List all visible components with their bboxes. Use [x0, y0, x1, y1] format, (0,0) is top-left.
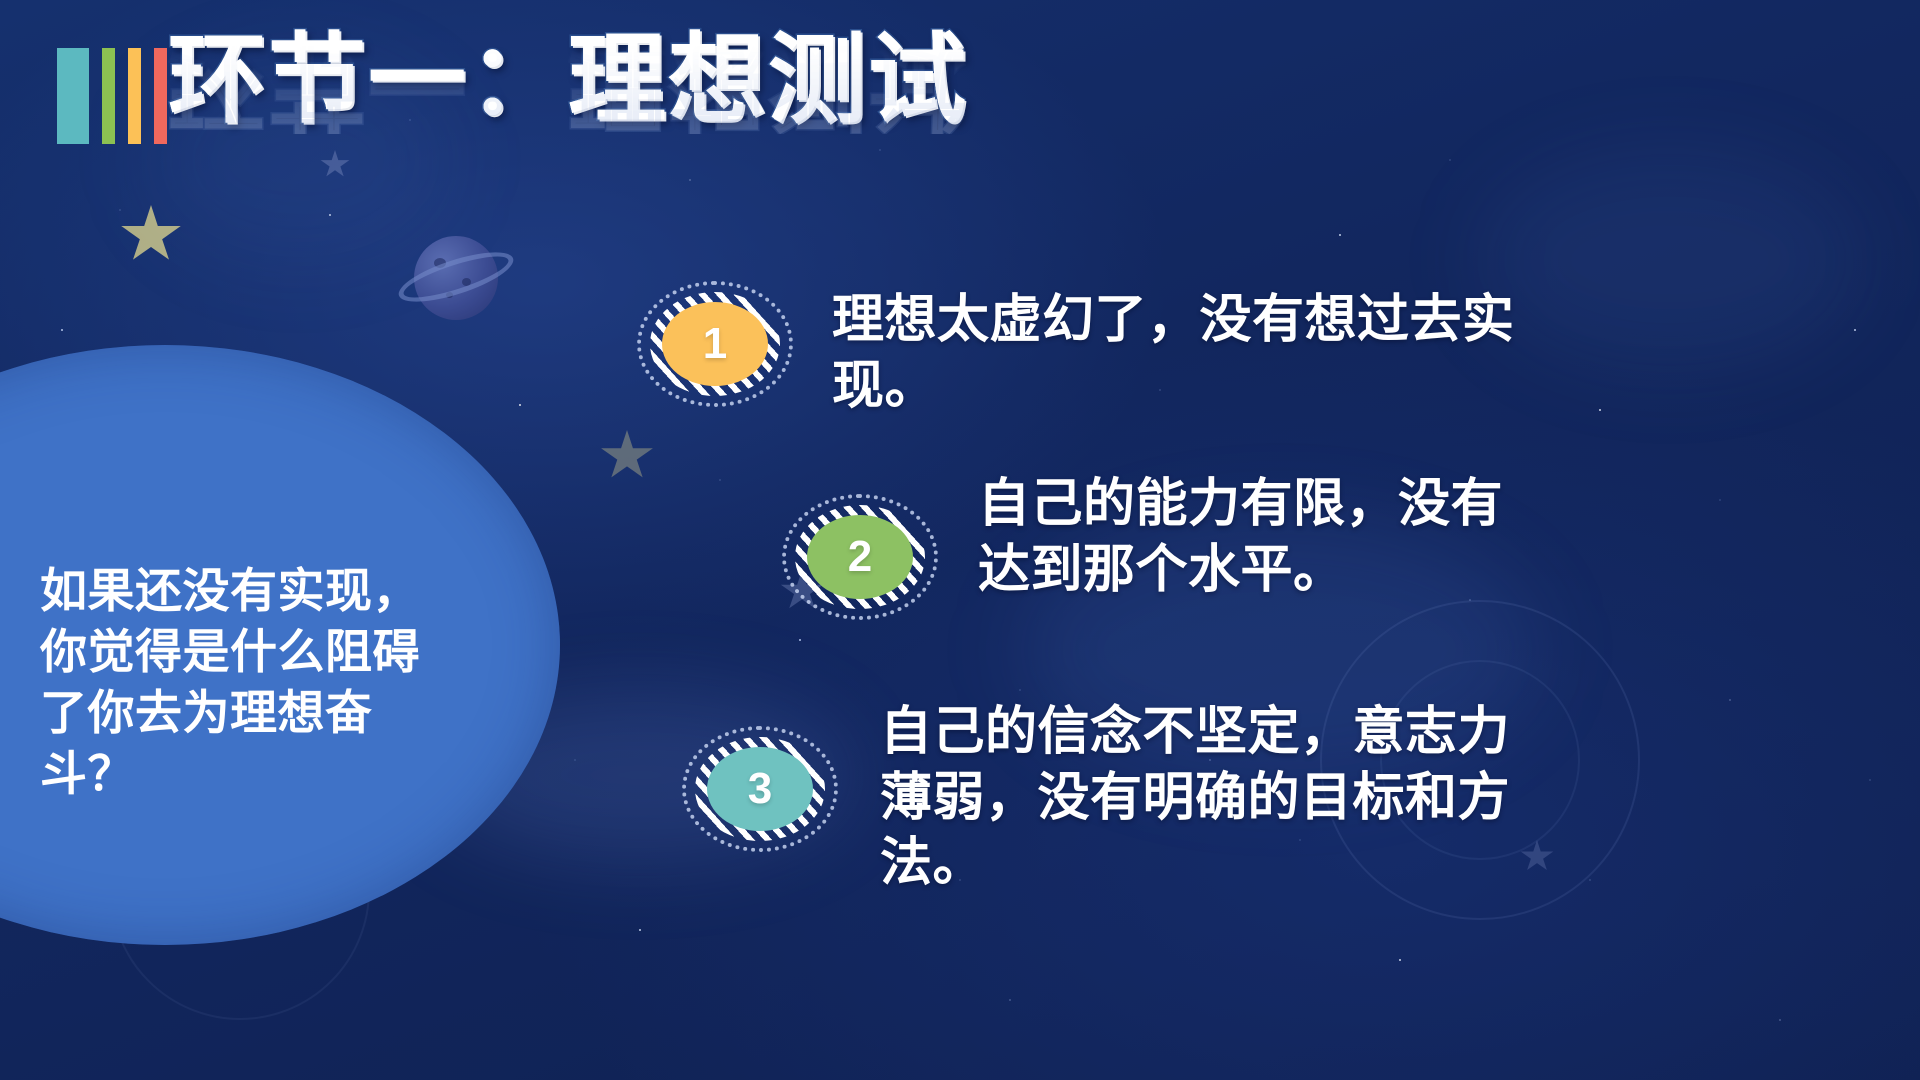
answer-text-2: 自己的能力有限，没有达到那个水平。	[978, 472, 1538, 603]
question-text: 如果还没有实现，你觉得是什么阻碍了你去为理想奋斗？	[40, 560, 460, 804]
page-title: 环节一：理想测试	[168, 30, 1368, 128]
accent-bar-group	[57, 48, 180, 144]
presentation-slide: 环节一：理想测试 环节一：理想测试 如果还没有实现，你觉得是什么阻碍了你去为理想…	[0, 0, 1920, 1080]
accent-bar-red	[154, 48, 167, 144]
accent-bar-green	[102, 48, 115, 144]
answer-text-3: 自己的信念不坚定，意志力薄弱，没有明确的目标和方法。	[880, 700, 1560, 897]
accent-bar-teal	[57, 48, 89, 144]
badge-number: 2	[848, 535, 872, 579]
planet-icon	[400, 222, 512, 334]
title-block: 环节一：理想测试 环节一：理想测试	[168, 30, 1368, 210]
badge-2[interactable]: 2	[795, 505, 925, 609]
answer-text-1: 理想太虚幻了，没有想过去实现。	[832, 288, 1532, 419]
badge-1[interactable]: 1	[650, 292, 780, 396]
star-icon	[600, 430, 654, 482]
accent-bar-amber	[128, 48, 141, 144]
badge-3[interactable]: 3	[695, 737, 825, 841]
star-icon	[120, 205, 182, 265]
badge-number: 3	[748, 767, 772, 811]
slide-header: 环节一：理想测试 环节一：理想测试	[0, 0, 1920, 210]
badge-number: 1	[703, 322, 727, 366]
